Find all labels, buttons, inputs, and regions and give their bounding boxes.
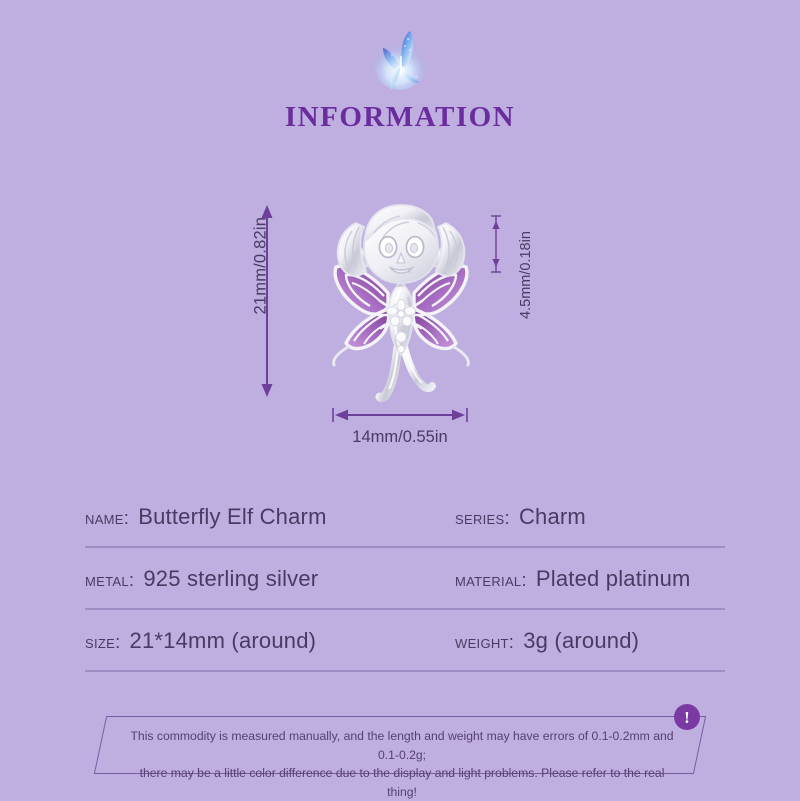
exclamation-icon: !: [674, 704, 700, 730]
spec-label: SIZE:: [85, 631, 121, 653]
spec-value: 3g (around): [523, 628, 639, 654]
spec-material: MATERIAL: Plated platinum: [455, 566, 691, 592]
spec-value: Plated platinum: [536, 566, 691, 592]
row-divider: [85, 608, 725, 610]
butterfly-icon: [358, 22, 444, 98]
disclaimer-text: This commodity is measured manually, and…: [126, 727, 678, 801]
disclaimer-line-1: This commodity is measured manually, and…: [126, 727, 678, 764]
disclaimer-banner: This commodity is measured manually, and…: [100, 716, 700, 774]
information-infographic: INFORMATION: [0, 0, 800, 800]
spec-value: Charm: [519, 504, 586, 530]
spec-label: NAME:: [85, 507, 129, 529]
row-divider: [85, 670, 725, 672]
spec-value: Butterfly Elf Charm: [138, 504, 326, 530]
dimension-width-label: 14mm/0.55in: [305, 428, 495, 447]
spec-value: 21*14mm (around): [130, 628, 317, 654]
table-row: SIZE: 21*14mm (around) WEIGHT: 3g (aroun…: [0, 622, 800, 684]
fairy-elf-charm-figure: [322, 197, 480, 409]
spec-value: 925 sterling silver: [143, 566, 318, 592]
spec-label: SERIES:: [455, 507, 510, 529]
spec-metal: METAL: 925 sterling silver: [85, 566, 318, 592]
spec-name: NAME: Butterfly Elf Charm: [85, 504, 327, 530]
spec-size: SIZE: 21*14mm (around): [85, 628, 316, 654]
disclaimer-line-2: there may be a little color difference d…: [126, 764, 678, 801]
product-dimension-area: 21mm/0.82in 4.5mm/0.18in 14mm/0.55in: [0, 185, 800, 460]
spec-label: METAL:: [85, 569, 134, 591]
specification-table: NAME: Butterfly Elf Charm SERIES: Charm …: [0, 498, 800, 684]
table-row: METAL: 925 sterling silver MATERIAL: Pla…: [0, 560, 800, 622]
dimension-thickness-label: 4.5mm/0.18in: [518, 220, 534, 330]
spec-weight: WEIGHT: 3g (around): [455, 628, 639, 654]
spec-series: SERIES: Charm: [455, 504, 586, 530]
dimension-arrow-thickness: [489, 215, 503, 273]
dimension-height-label: 21mm/0.82in: [252, 219, 271, 315]
spec-label: WEIGHT:: [455, 631, 514, 653]
table-row: NAME: Butterfly Elf Charm SERIES: Charm: [0, 498, 800, 560]
spec-label: MATERIAL:: [455, 569, 527, 591]
dimension-arrow-width: [332, 407, 468, 423]
row-divider: [85, 546, 725, 548]
page-title: INFORMATION: [0, 88, 800, 136]
exclamation-glyph: !: [684, 709, 690, 726]
